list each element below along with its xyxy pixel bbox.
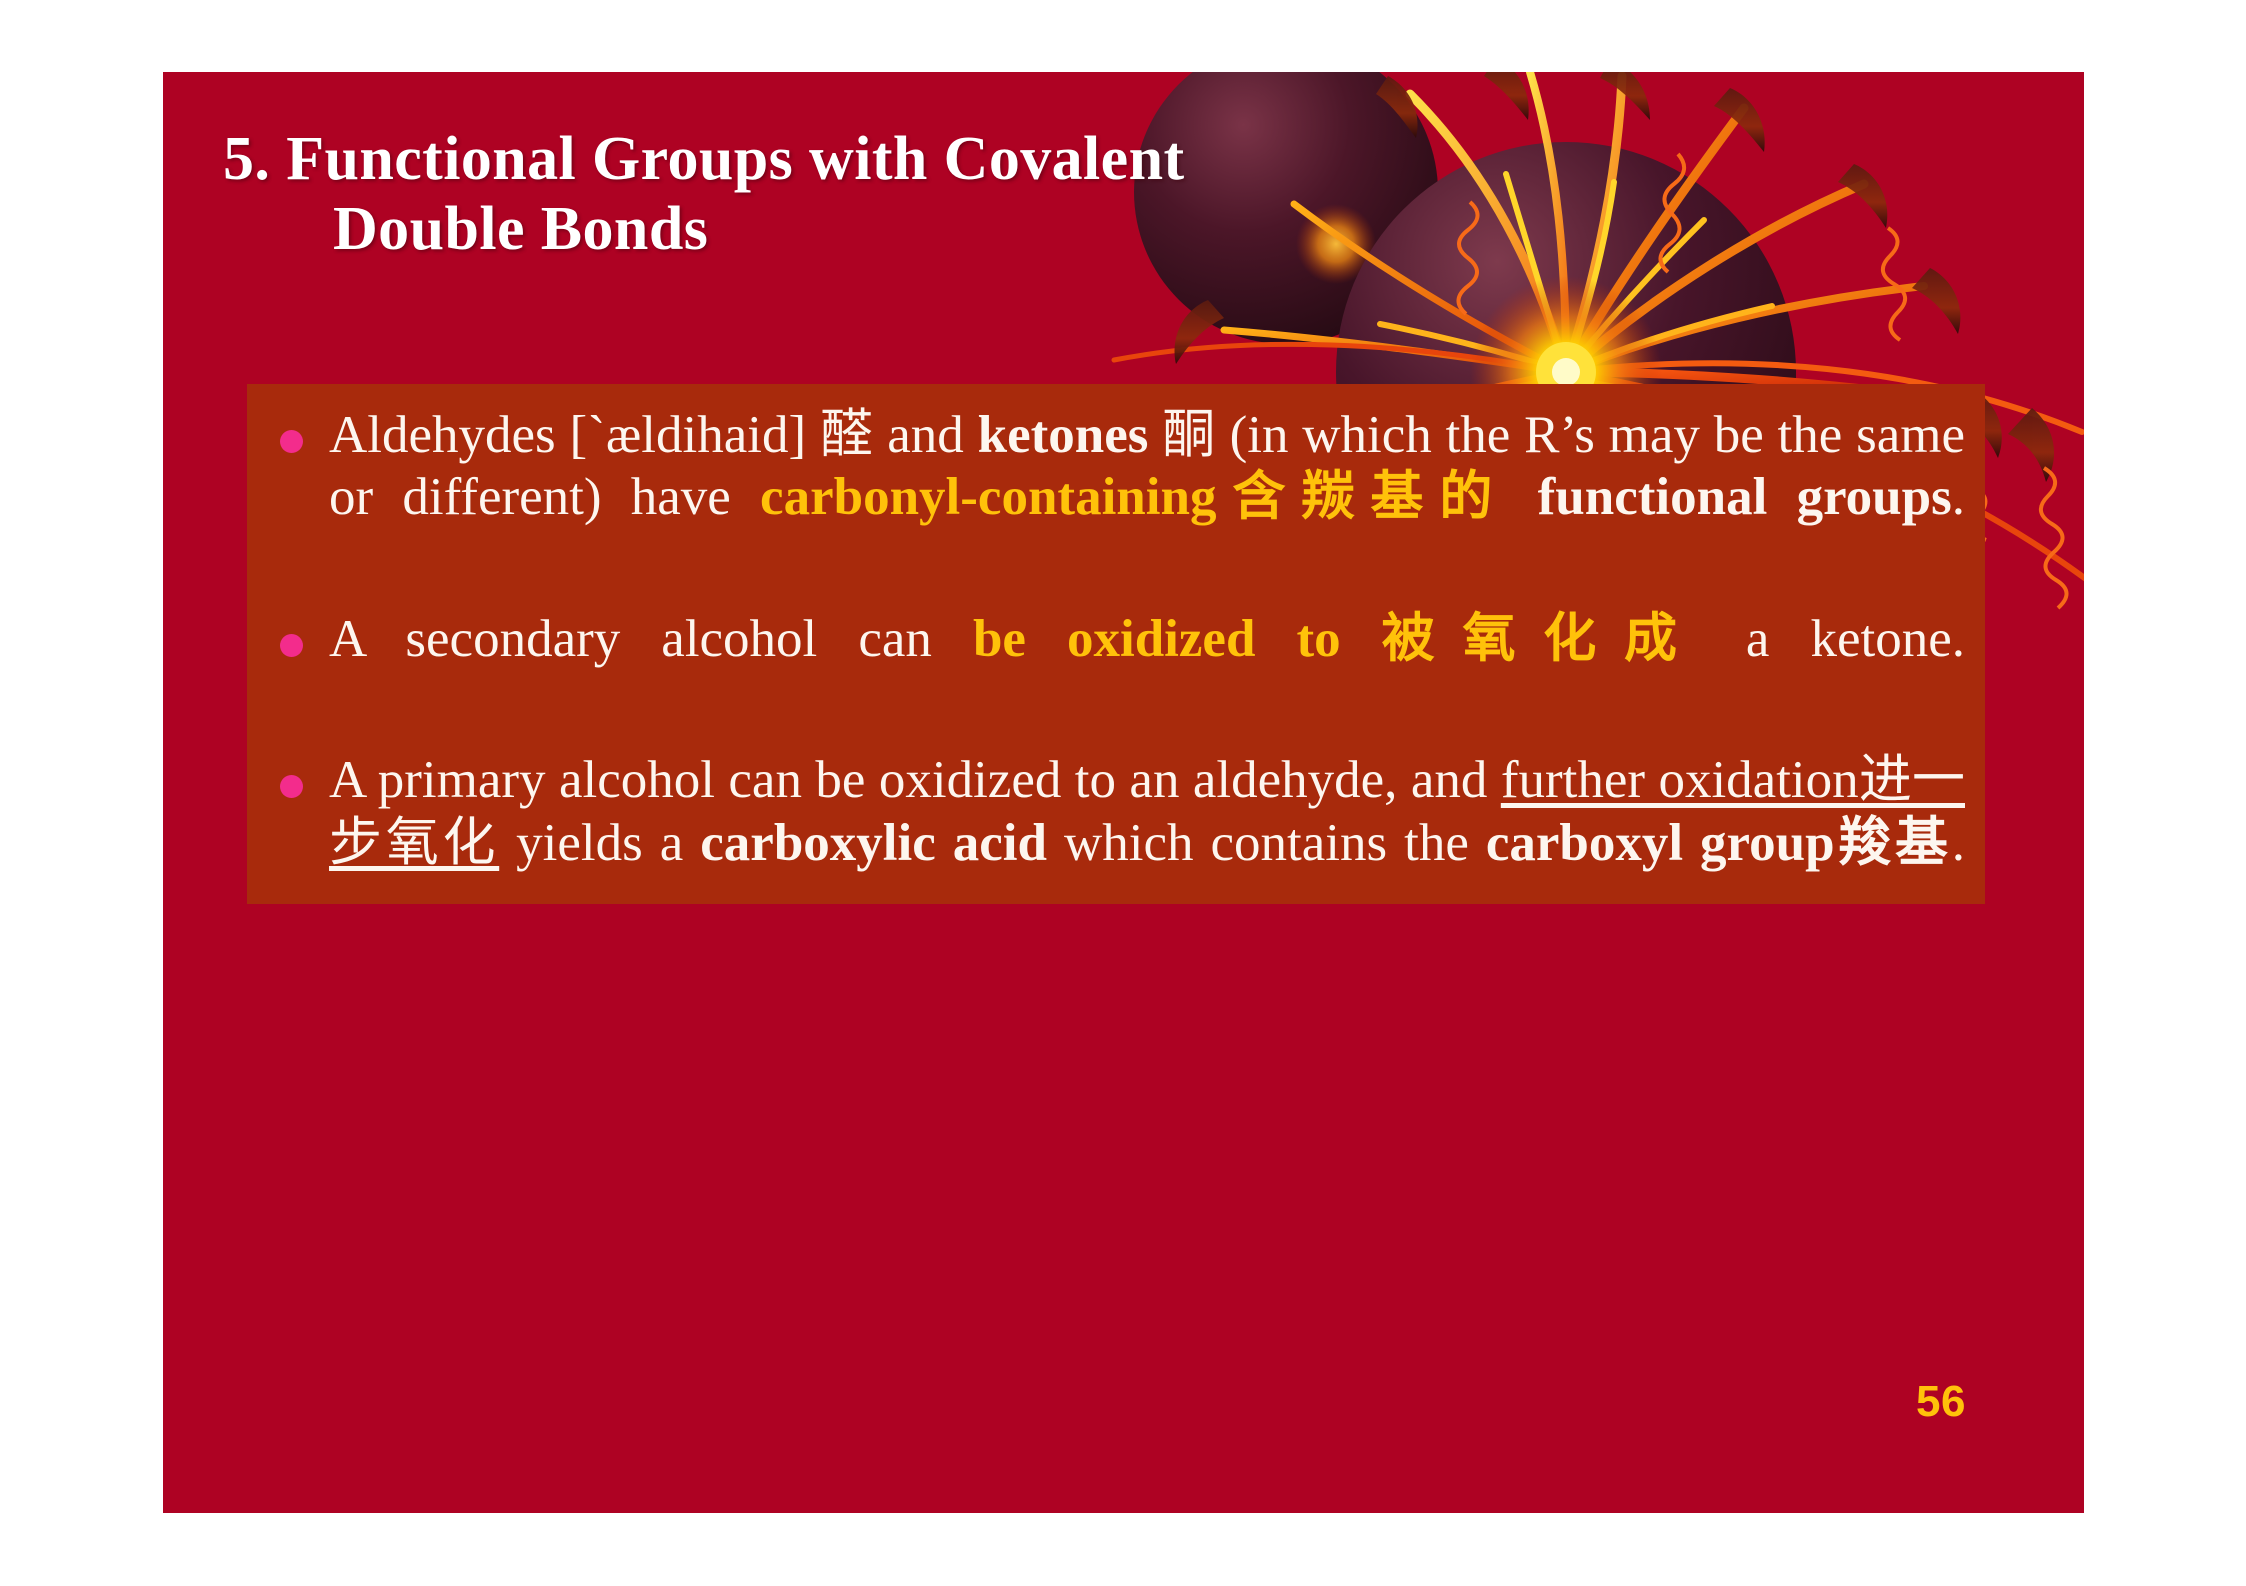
text-run-1: be oxidized to 被氧化成 [973,610,1705,668]
text-run-0: Aldehydes [ˋældihaid] 醛 and [329,406,978,464]
bullet-aldehydes-ketones: Aldehydes [ˋældihaid] 醛 and ketones 酮 (i… [247,384,1985,591]
text-run-6: . [1952,814,1965,872]
page-title: 5. Functional Groups with Covalent Doubl… [223,124,1403,264]
bullet-dot-icon [280,775,303,798]
bullet-text: A primary alcohol can be oxidized to an … [329,749,1965,936]
text-run-4: which contains the [1047,814,1486,872]
slide-canvas: 5. Functional Groups with Covalent Doubl… [163,72,2084,1513]
text-run-2: a ketone. [1705,610,1965,668]
title-line-2: Double Bonds [223,194,1403,264]
title-line-1: 5. Functional Groups with Covalent [223,124,1403,194]
bullet-primary-alcohol: A primary alcohol can be oxidized to an … [247,732,1985,936]
text-run-0: A secondary alcohol can [329,610,973,668]
bullet-dot-icon [280,430,303,453]
text-run-4 [1508,468,1537,526]
bullet-secondary-alcohol: A secondary alcohol can be oxidized to 被… [247,591,1985,733]
text-run-6: . [1952,468,1965,526]
text-run-2: yields a [499,814,700,872]
text-run-3: carboxylic acid [700,814,1047,872]
text-run-1: ketones [978,406,1149,464]
text-run-0: A primary alcohol can be oxidized to an … [329,751,1501,809]
bullet-dot-icon [280,634,303,657]
page-number: 56 [1916,1377,1966,1427]
text-run-5: carboxyl group羧基 [1486,814,1952,872]
bullet-text: Aldehydes [ˋældihaid] 醛 and ketones 酮 (i… [329,404,1965,591]
bullet-text: A secondary alcohol can be oxidized to 被… [329,608,1965,733]
content-panel: Aldehydes [ˋældihaid] 醛 and ketones 酮 (i… [247,384,1985,904]
text-run-5: functional groups [1538,468,1952,526]
text-run-3: carbonyl-containing含羰基的 [760,468,1508,526]
